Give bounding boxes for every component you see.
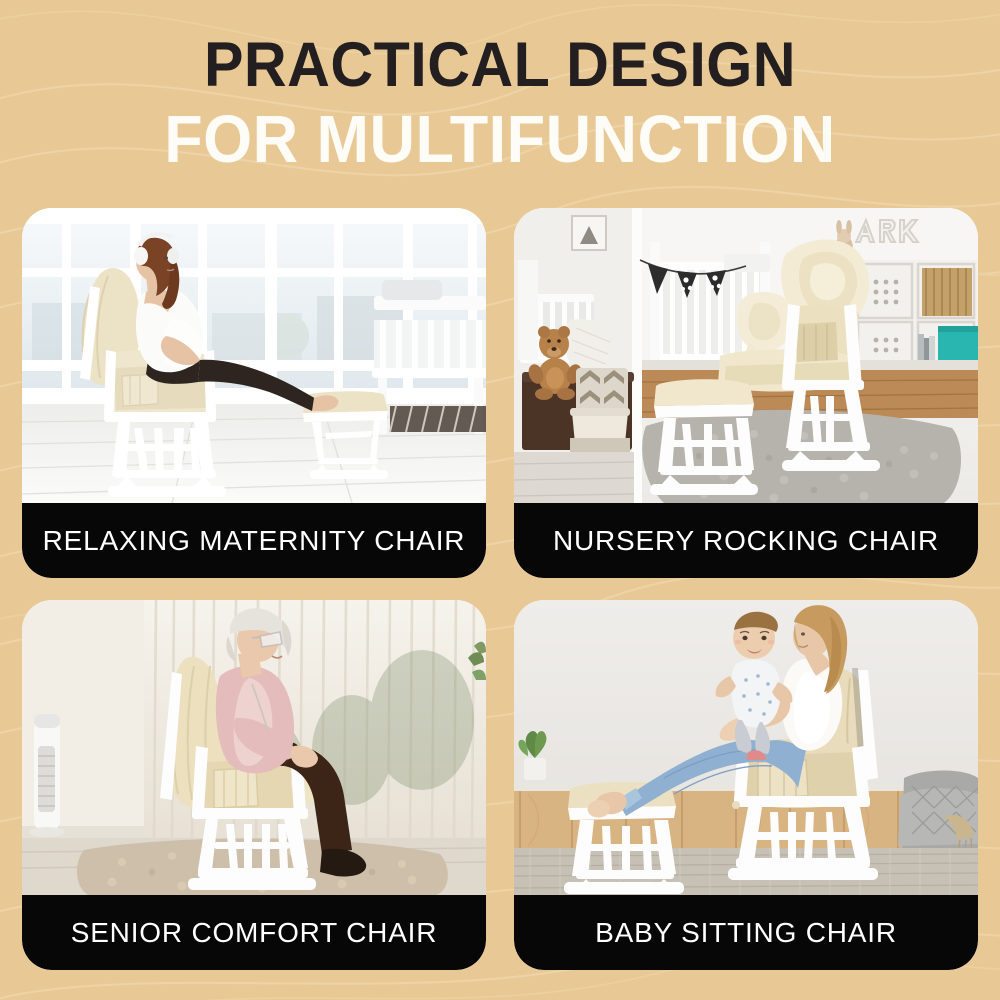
card-caption-text: RELAXING MATERNITY CHAIR: [43, 525, 466, 557]
card-caption-bar-maternity: RELAXING MATERNITY CHAIR: [22, 503, 486, 578]
title-line-secondary: FOR MULTIFUNCTION: [30, 106, 970, 173]
feature-card-nursery-rocking-chair[interactable]: NURSERY ROCKING CHAIR: [514, 208, 978, 578]
card-caption-bar-senior: SENIOR COMFORT CHAIR: [22, 895, 486, 970]
card-caption-text: SENIOR COMFORT CHAIR: [71, 917, 438, 949]
card-photo-senior: [22, 600, 486, 895]
card-caption-text: NURSERY ROCKING CHAIR: [553, 525, 939, 557]
feature-card-baby-sitting-chair[interactable]: BABY SITTING CHAIR: [514, 600, 978, 970]
title-line-primary: PRACTICAL DESIGN: [30, 34, 970, 97]
feature-card-grid: RELAXING MATERNITY CHAIR: [22, 208, 978, 978]
page-title: PRACTICAL DESIGN FOR MULTIFUNCTION: [0, 34, 1000, 173]
feature-card-senior-comfort-chair[interactable]: SENIOR COMFORT CHAIR: [22, 600, 486, 970]
card-caption-bar-baby: BABY SITTING CHAIR: [514, 895, 978, 970]
card-photo-nursery: [514, 208, 978, 503]
feature-card-relaxing-maternity-chair[interactable]: RELAXING MATERNITY CHAIR: [22, 208, 486, 578]
card-photo-maternity: [22, 208, 486, 503]
card-photo-baby: [514, 600, 978, 895]
card-caption-bar-nursery: NURSERY ROCKING CHAIR: [514, 503, 978, 578]
card-caption-text: BABY SITTING CHAIR: [595, 917, 897, 949]
